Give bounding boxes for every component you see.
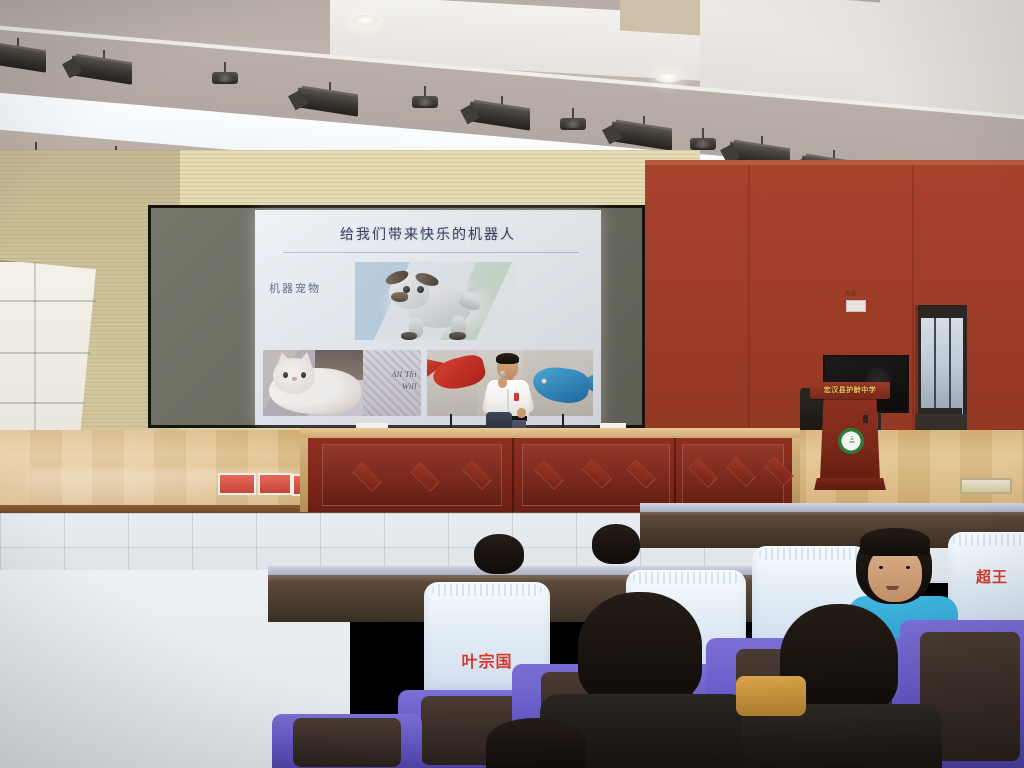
recessed-downlight-icon — [655, 72, 681, 83]
recessed-downlight-icon — [352, 15, 378, 26]
stage-light-fresnel — [0, 38, 50, 72]
dog-leg — [451, 316, 466, 338]
stage-light-fresnel — [298, 82, 362, 116]
presentation-slide: 给我们带来快乐的机器人 机器宠物 — [255, 210, 601, 425]
stage-light-parcan — [412, 86, 438, 108]
pillow: All Thi Will — [363, 350, 421, 416]
cat-nose — [292, 377, 297, 381]
cat-head — [273, 358, 315, 394]
stage-light-fresnel — [470, 96, 534, 130]
dog-tail — [466, 281, 485, 295]
dog-leg — [409, 318, 423, 338]
audience-desk-top — [268, 566, 828, 575]
presenter-hand — [517, 408, 526, 418]
cat-body — [269, 368, 361, 414]
cat-eye — [301, 372, 306, 378]
photo-background — [315, 350, 367, 380]
pillow-text-line1: All Thi — [391, 370, 417, 379]
podium-control-button[interactable] — [863, 415, 868, 423]
dog-paw — [449, 332, 466, 340]
auditorium-seat[interactable] — [272, 714, 422, 768]
cat-eye — [283, 372, 288, 378]
slide-title-rule — [283, 252, 579, 253]
panel-seam — [0, 352, 90, 354]
robot-dog-photo — [355, 262, 515, 340]
dog-eye — [417, 286, 424, 293]
dog-eye — [403, 286, 410, 293]
blue-fish-eye — [541, 378, 547, 384]
school-crest-icon — [838, 428, 864, 454]
slide-title: 给我们带来快乐的机器人 — [255, 224, 601, 244]
student-shoulder-orange — [736, 676, 806, 716]
podium-base — [814, 478, 886, 490]
dog-ear — [414, 271, 440, 289]
student-eye — [879, 566, 883, 569]
presenter-badge — [514, 393, 519, 401]
blue-robot-fish — [531, 364, 591, 405]
chair-cover-name: 超王 — [976, 566, 1008, 587]
presenter-hand-holding-mic — [498, 377, 507, 388]
stage-light-parcan — [690, 128, 716, 150]
stage-light-fresnel — [72, 50, 136, 84]
desk-panel-seam — [674, 438, 676, 512]
desk-side-cap — [300, 438, 308, 512]
stage-light-parcan — [560, 108, 586, 130]
dog-body — [407, 288, 471, 328]
student-eye — [906, 566, 910, 569]
window-mullion — [949, 318, 951, 414]
chair-cover-with-name: 超王 — [948, 532, 1024, 632]
lectern-podium[interactable]: 宏汉县护龄中学 — [812, 382, 888, 490]
cat-ear — [275, 351, 291, 366]
slide-subtitle-label: 机器宠物 — [269, 280, 321, 296]
student-mouth — [886, 586, 899, 590]
door-window — [921, 318, 963, 414]
audience-desk-top — [640, 503, 1024, 512]
desk-panel-seam — [512, 438, 514, 512]
blue-fish-tail — [575, 372, 593, 394]
student-hair — [860, 528, 930, 556]
white-cat-photo: All Thi Will — [263, 350, 421, 416]
red-fish-tail — [427, 354, 447, 378]
student-head — [592, 524, 640, 564]
stage-light-parcan — [212, 62, 238, 84]
dog-head — [389, 276, 429, 309]
dog-leg — [458, 293, 483, 312]
dog-ear — [384, 268, 410, 287]
pillow-text-line2: Will — [402, 382, 417, 391]
floor-marking — [960, 478, 1012, 494]
student-head — [474, 534, 524, 574]
student-head-foreground — [486, 718, 586, 768]
led-screen-wall: 给我们带来快乐的机器人 机器宠物 — [148, 205, 645, 428]
stage-light-fresnel — [612, 116, 676, 150]
podium-school-name: 宏汉县护龄中学 — [810, 382, 890, 399]
window-mullion — [934, 318, 936, 414]
wall-switch-plate — [846, 300, 866, 312]
dog-paw — [401, 332, 417, 340]
wall-signage-text: 电源 — [845, 290, 857, 297]
podium-nameplate: 宏汉县护龄中学 — [810, 382, 890, 399]
dog-snout — [391, 292, 408, 302]
auditorium-photo: 电源 给我们带来快乐的机器人 机器宠物 — [0, 0, 1024, 768]
presenter-hair — [496, 353, 519, 364]
cat-ear — [298, 351, 314, 366]
panel-seam — [0, 300, 96, 302]
seat-cushion — [293, 718, 401, 766]
student-head-foreground — [578, 592, 702, 704]
panel-seam — [0, 402, 84, 404]
